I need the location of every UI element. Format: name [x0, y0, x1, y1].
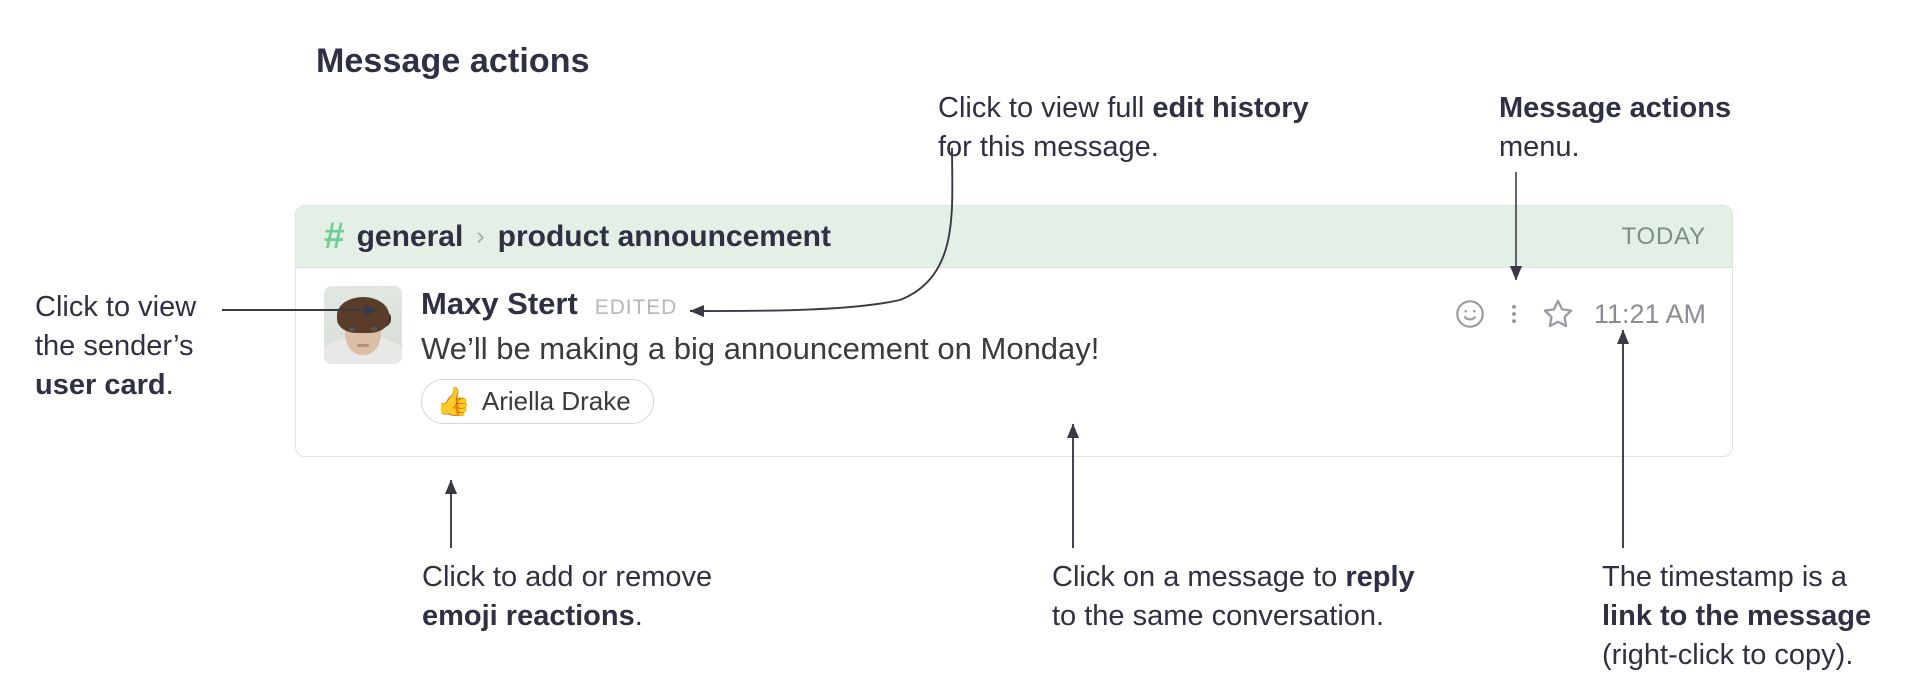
annotation-edit-history-line1: Click to view full edit history [938, 89, 1309, 128]
message-row[interactable]: Maxy Stert EDITED We’ll be making a big … [296, 268, 1732, 424]
annotation-user-card: Click to view the sender’s user card. [35, 288, 196, 405]
annotation-timestamp-link: The timestamp is a link to the message (… [1602, 558, 1871, 675]
annotation-timestamp-line2: link to the message [1602, 597, 1871, 636]
annotation-actions-menu-bold: Message actions [1499, 92, 1731, 124]
star-button[interactable] [1536, 292, 1580, 336]
message-actions-menu-button[interactable] [1492, 292, 1536, 336]
date-label: TODAY [1622, 223, 1706, 251]
annotation-user-card-line1: Click to view [35, 288, 196, 327]
chevron-right-icon: › [476, 224, 484, 249]
annotation-timestamp-bold: link to the message [1602, 600, 1871, 632]
message-card: # general › product announcement TODAY M… [295, 205, 1733, 457]
annotation-reply-line1: Click on a message to reply [1052, 558, 1415, 597]
emoji-reaction-button[interactable] [1448, 292, 1492, 336]
annotation-reply-bold: reply [1345, 561, 1414, 593]
annotation-user-card-line3: user card. [35, 366, 196, 405]
annotation-user-card-tail: . [166, 369, 174, 401]
page-title: Message actions [316, 42, 590, 81]
annotation-emoji-reactions-tail: . [635, 600, 643, 632]
annotation-user-card-bold: user card [35, 369, 166, 401]
annotation-timestamp-line1: The timestamp is a [1602, 558, 1871, 597]
edited-label[interactable]: EDITED [595, 296, 677, 320]
annotation-emoji-reactions-bold: emoji reactions [422, 600, 635, 632]
annotation-actions-menu-line1: Message actions [1499, 89, 1731, 128]
channel-header: # general › product announcement TODAY [296, 206, 1732, 268]
annotation-emoji-reactions-line1: Click to add or remove [422, 558, 712, 597]
thumbs-up-icon: 👍 [436, 388, 471, 416]
annotation-actions-menu: Message actions menu. [1499, 89, 1731, 167]
avatar-eye-right [371, 327, 377, 331]
annotation-emoji-reactions: Click to add or remove emoji reactions. [422, 558, 712, 636]
annotation-reply: Click on a message to reply to the same … [1052, 558, 1415, 636]
emoji-reaction-icon [1453, 297, 1487, 331]
channel-name[interactable]: general [357, 220, 464, 254]
reactions-list: 👍 Ariella Drake [421, 379, 1706, 424]
message-actions-menu-icon [1501, 297, 1527, 331]
message-text[interactable]: We’ll be making a big announcement on Mo… [421, 331, 1706, 367]
hash-icon: # [324, 217, 345, 254]
annotation-edit-history-line2: for this message. [938, 128, 1309, 167]
sender-name[interactable]: Maxy Stert [421, 286, 578, 322]
annotation-reply-pre: Click on a message to [1052, 561, 1345, 593]
annotation-actions-menu-line2: menu. [1499, 128, 1731, 167]
annotation-emoji-reactions-line2: emoji reactions. [422, 597, 712, 636]
annotation-timestamp-line3: (right-click to copy). [1602, 636, 1871, 675]
reaction-user-label: Ariella Drake [482, 386, 631, 417]
message-timestamp[interactable]: 11:21 AM [1594, 299, 1706, 330]
annotation-reply-line2: to the same conversation. [1052, 597, 1415, 636]
topic-name[interactable]: product announcement [498, 220, 831, 254]
avatar-eye-left [349, 327, 355, 331]
star-icon [1540, 296, 1576, 332]
message-actions-toolbar: 11:21 AM [1448, 292, 1706, 336]
avatar[interactable] [324, 286, 402, 364]
reaction-pill[interactable]: 👍 Ariella Drake [421, 379, 654, 424]
annotation-user-card-line2: the sender’s [35, 327, 196, 366]
avatar-hair [337, 297, 389, 333]
annotation-edit-history-pre: Click to view full [938, 92, 1152, 124]
annotation-edit-history: Click to view full edit history for this… [938, 89, 1309, 167]
annotation-edit-history-bold: edit history [1152, 92, 1308, 124]
avatar-mouth [357, 344, 369, 347]
